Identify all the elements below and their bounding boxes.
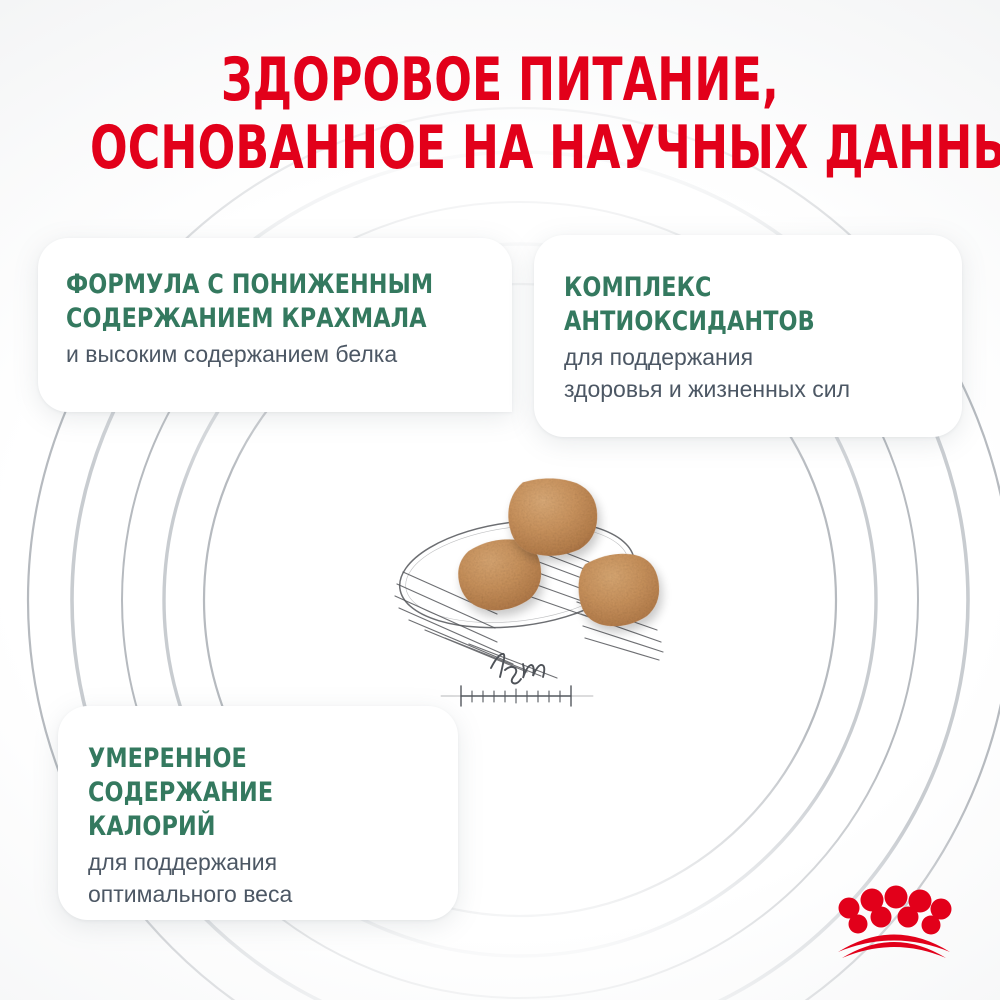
page-title: ЗДОРОВОЕ ПИТАНИЕ, ОСНОВАННОЕ НА НАУЧНЫХ … xyxy=(0,46,1000,182)
benefit-card-moderate-calories-subtitle: для поддержания оптимального веса xyxy=(88,846,458,910)
benefit-card-reduced-starch-subtitle: и высоким содержанием белка xyxy=(66,338,512,370)
royal-canin-crown-logo xyxy=(828,884,960,960)
kibble-illustration xyxy=(345,462,695,720)
benefit-card-moderate-calories: УМЕРЕННОЕ СОДЕРЖАНИЕ КАЛОРИЙ для поддерж… xyxy=(58,706,458,920)
page-title-line-2: ОСНОВАННОЕ НА НАУЧНЫХ ДАННЫХ xyxy=(90,114,910,182)
ruler-scale xyxy=(441,686,593,706)
benefit-card-antioxidants: КОМПЛЕКС АНТИОКСИДАНТОВ для поддержания … xyxy=(534,235,962,437)
royal-canin-benefits-poster: ЗДОРОВОЕ ПИТАНИЕ, ОСНОВАННОЕ НА НАУЧНЫХ … xyxy=(0,0,1000,1000)
benefit-card-reduced-starch-heading: ФОРМУЛА С ПОНИЖЕННЫМ СОДЕРЖАНИЕМ КРАХМАЛ… xyxy=(66,268,476,336)
page-title-line-1: ЗДОРОВОЕ ПИТАНИЕ, xyxy=(90,46,910,114)
benefit-card-reduced-starch: ФОРМУЛА С ПОНИЖЕННЫМ СОДЕРЖАНИЕМ КРАХМАЛ… xyxy=(38,238,512,412)
benefit-card-antioxidants-heading: КОМПЛЕКС АНТИОКСИДАНТОВ xyxy=(564,271,930,339)
benefit-card-moderate-calories-heading: УМЕРЕННОЕ СОДЕРЖАНИЕ КАЛОРИЙ xyxy=(88,742,428,844)
benefit-card-antioxidants-subtitle: для поддержания здоровья и жизненных сил xyxy=(564,341,962,405)
